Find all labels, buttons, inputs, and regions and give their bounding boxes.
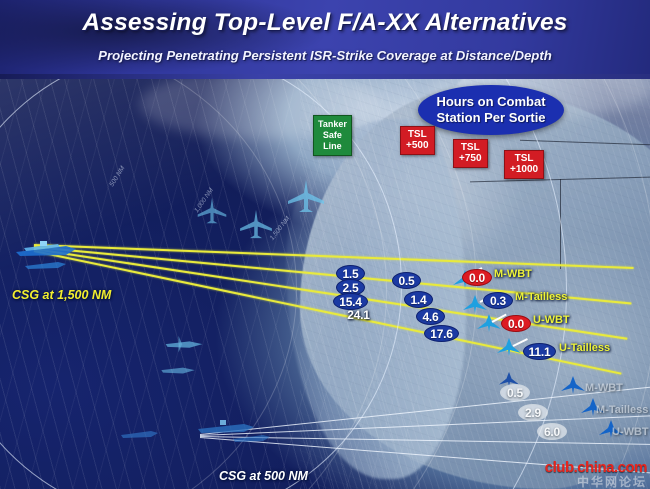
- csg-label-near: CSG at 500 NM: [219, 469, 308, 483]
- legend-line2: Station Per Sortie: [436, 110, 545, 126]
- value-pill-0-5: 0.5: [392, 272, 421, 289]
- tsl-500-value: +500: [406, 141, 429, 152]
- tsl-marker-500: TSL +500: [400, 126, 435, 155]
- value-pill-11-1: 11.1: [523, 343, 556, 360]
- platform-label-u-tailless: U-Tailless: [559, 342, 610, 354]
- page-title: Assessing Top-Level F/A-XX Alternatives: [0, 9, 650, 37]
- tanker-aircraft-5: [158, 361, 198, 381]
- value-pill-0-0-b: 0.0: [501, 315, 531, 332]
- csg-label-far: CSG at 1,500 NM: [12, 288, 111, 302]
- watermark-subtext: 中华网论坛: [545, 476, 647, 488]
- tsl-marker-1000: TSL +1000: [504, 150, 544, 179]
- tsl-750-label: TSL: [459, 143, 482, 154]
- border-line-2: [560, 179, 561, 269]
- tanker-aircraft-3: [196, 197, 228, 224]
- tanker-box-line3: Line: [318, 141, 347, 152]
- range-ring-label-500: 500 NM: [108, 165, 126, 188]
- value-pill-0-3: 0.3: [483, 292, 513, 309]
- tanker-box-line2: Safe: [318, 130, 347, 141]
- tanker-safe-line-box: Tanker Safe Line: [313, 115, 352, 156]
- value-pill-0-0-a: 0.0: [462, 269, 492, 286]
- value-pill-24-1: 24.1: [342, 307, 375, 322]
- tsl-marker-750: TSL +750: [453, 139, 488, 168]
- slide-canvas: Assessing Top-Level F/A-XX Alternatives …: [0, 0, 650, 489]
- value-pill-4-6: 4.6: [416, 308, 445, 325]
- slide-header: Assessing Top-Level F/A-XX Alternatives …: [0, 0, 650, 81]
- platform-label-u-wbt-ghost: U-WBT: [612, 426, 649, 438]
- tanker-aircraft-2: [238, 209, 274, 239]
- map-canvas: 500 NM 1,000 NM 1,500 NM Tanker Safe Lin…: [0, 79, 650, 489]
- tsl-1000-label: TSL: [510, 154, 538, 165]
- platform-label-m-tailless-ghost: M-Tailless: [596, 404, 648, 416]
- platform-label-m-wbt: M-WBT: [494, 268, 532, 280]
- tsl-1000-value: +1000: [510, 165, 538, 176]
- platform-label-u-wbt: U-WBT: [533, 314, 570, 326]
- value-pill-2-9-faded: 2.9: [518, 404, 548, 421]
- platform-label-m-wbt-ghost: M-WBT: [585, 382, 623, 394]
- value-pill-17-6: 17.6: [424, 325, 459, 342]
- escort-ship-near-1: [120, 427, 160, 439]
- platform-label-m-tailless: M-Tailless: [515, 291, 567, 303]
- watermark-text: club.china.com: [545, 460, 647, 475]
- range-ring-label-1000: 1,000 NM: [193, 187, 215, 214]
- tsl-500-label: TSL: [406, 130, 429, 141]
- value-pill-6-0-faded: 6.0: [537, 423, 567, 440]
- legend-line1: Hours on Combat: [436, 94, 545, 110]
- tsl-750-value: +750: [459, 154, 482, 165]
- escort-ship-far: [24, 257, 68, 271]
- value-pill-0-5-faded: 0.5: [500, 384, 530, 401]
- watermark: club.china.com 中华网论坛: [545, 460, 647, 488]
- page-subtitle: Projecting Penetrating Persistent ISR-St…: [0, 48, 650, 63]
- tanker-aircraft-4: [162, 334, 206, 356]
- tanker-box-line1: Tanker: [318, 119, 347, 130]
- legend-callout: Hours on Combat Station Per Sortie: [418, 85, 564, 135]
- value-pill-1-4: 1.4: [404, 291, 433, 308]
